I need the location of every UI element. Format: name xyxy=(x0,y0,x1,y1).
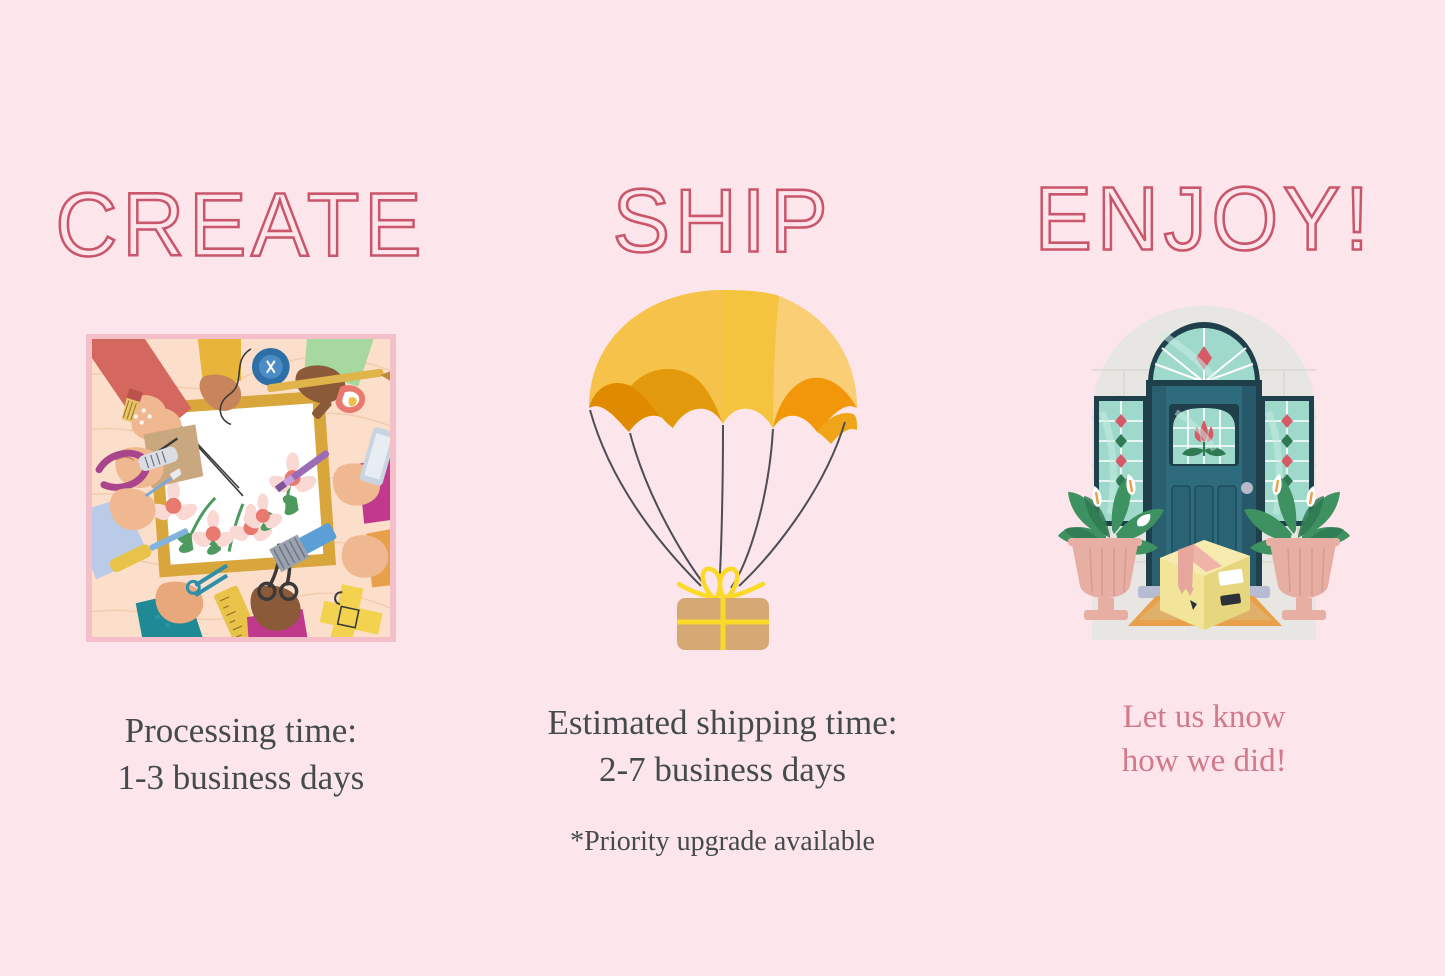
front-door-svg xyxy=(1054,300,1354,640)
heading-ship: SHIP xyxy=(613,176,833,266)
front-door-delivery-illustration xyxy=(1054,300,1354,640)
parachute-svg xyxy=(573,282,873,650)
caption-ship-note: *Priority upgrade available xyxy=(570,823,875,860)
column-ship: SHIP xyxy=(482,0,964,976)
caption-ship: Estimated shipping time: 2-7 business da… xyxy=(548,700,898,793)
parachute-package-illustration xyxy=(573,282,873,650)
heading-wrap-ship: SHIP xyxy=(613,178,833,264)
column-create: CREATE xyxy=(0,0,482,976)
heading-create: CREATE xyxy=(55,180,426,270)
process-banner: CREATE xyxy=(0,0,1445,976)
caption-create: Processing time: 1-3 business days xyxy=(117,708,364,801)
process-columns: CREATE xyxy=(0,0,1445,976)
craft-hands-illustration xyxy=(86,334,396,642)
heading-wrap-enjoy: ENJOY! xyxy=(1035,176,1374,262)
heading-enjoy: ENJOY! xyxy=(1035,174,1374,264)
column-enjoy: ENJOY! xyxy=(963,0,1445,976)
craft-hands-svg xyxy=(91,339,391,637)
heading-wrap-create: CREATE xyxy=(55,182,426,268)
caption-enjoy: Let us know how we did! xyxy=(1122,696,1287,784)
